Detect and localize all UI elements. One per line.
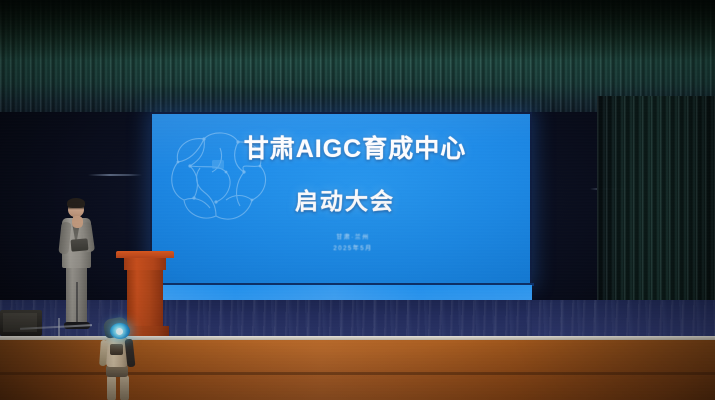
microphone-stand	[58, 318, 60, 336]
led-screen-frame: 甘肃AIGC育成中心 启动大会 甘肃·兰州 2025年5月	[150, 112, 532, 285]
led-subtitle-line-1: 甘肃·兰州	[176, 233, 530, 244]
robot-right-arm	[125, 339, 136, 368]
led-title-block: 甘肃AIGC育成中心 启动大会	[152, 136, 530, 216]
robot-right-leg	[120, 375, 129, 400]
led-title-line-1: 甘肃AIGC育成中心	[180, 136, 530, 164]
podium-neck	[124, 258, 166, 270]
stage-curtain-right	[597, 96, 715, 328]
led-presentation-screen: 甘肃AIGC育成中心 启动大会 甘肃·兰州 2025年5月	[152, 114, 530, 283]
led-subtitle-line-2: 2025年5月	[176, 244, 530, 255]
robot-visor-core-icon	[116, 328, 123, 335]
humanoid-robot	[96, 318, 144, 400]
robot-left-leg	[107, 375, 116, 400]
led-subtitle-block: 甘肃·兰州 2025年5月	[152, 233, 530, 256]
backdrop-light-streak	[88, 174, 142, 176]
presenter-leg-gap	[76, 282, 78, 324]
robot-chest-panel	[110, 344, 123, 355]
presenter-hands	[72, 216, 83, 228]
curtain-top-shadow	[0, 0, 715, 60]
led-title-line-2: 启动大会	[160, 182, 530, 216]
presenter-documents	[71, 238, 89, 251]
podium-top	[116, 251, 174, 258]
stage-event-photo: 甘肃AIGC育成中心 启动大会 甘肃·兰州 2025年5月	[0, 0, 715, 400]
presenter-hair	[67, 198, 85, 208]
